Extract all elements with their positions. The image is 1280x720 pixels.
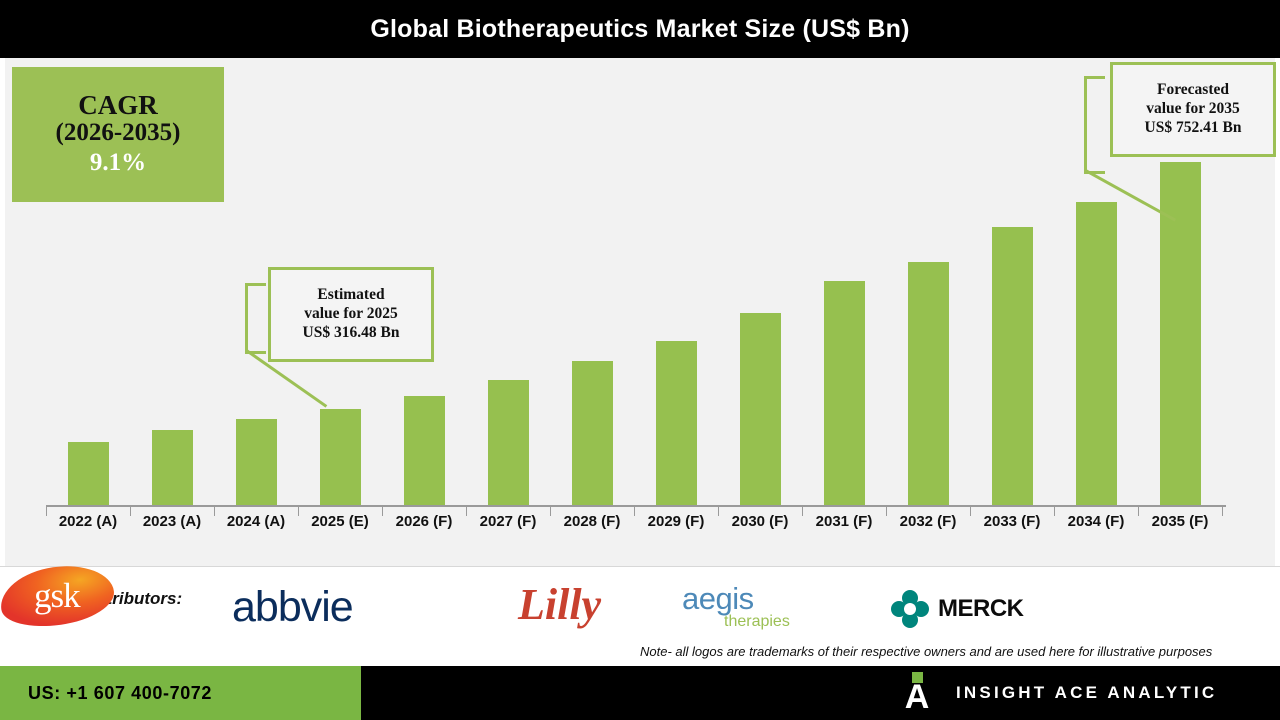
forecasted-line-1: Forecasted bbox=[1157, 81, 1229, 100]
gsk-logo: gsk bbox=[0, 559, 117, 632]
forecasted-line-3: US$ 752.41 Bn bbox=[1145, 119, 1242, 138]
bar-2028f bbox=[572, 361, 613, 505]
bar-series bbox=[46, 58, 1226, 505]
page-title: Global Biotherapeutics Market Size (US$ … bbox=[0, 0, 1280, 58]
brand-name: INSIGHT ACE ANALYTIC bbox=[956, 683, 1217, 703]
x-axis-label-7: 2029 (F) bbox=[634, 513, 718, 530]
bar-2034f bbox=[1076, 202, 1117, 505]
bar-2031f bbox=[824, 281, 865, 505]
trademark-note: Note- all logos are trademarks of their … bbox=[640, 644, 1212, 659]
estimated-line-1: Estimated bbox=[317, 286, 384, 305]
forecasted-value-callout: Forecasted value for 2035 US$ 752.41 Bn bbox=[1110, 62, 1276, 157]
x-axis-label-12: 2034 (F) bbox=[1054, 513, 1138, 530]
x-axis-label-3: 2025 (E) bbox=[298, 513, 382, 530]
bar-2032f bbox=[908, 262, 949, 505]
aegis-logo-subtext: therapies bbox=[724, 613, 790, 631]
chart-page: Global Biotherapeutics Market Size (US$ … bbox=[0, 0, 1280, 720]
bar-2030f bbox=[740, 313, 781, 505]
x-axis-label-6: 2028 (F) bbox=[550, 513, 634, 530]
x-axis-label-5: 2027 (F) bbox=[466, 513, 550, 530]
lilly-logo: Lilly bbox=[518, 579, 601, 630]
x-axis-label-8: 2030 (F) bbox=[718, 513, 802, 530]
estimated-line-3: US$ 316.48 Bn bbox=[303, 324, 400, 343]
x-axis-label-13: 2035 (F) bbox=[1138, 513, 1222, 530]
bar-2022a bbox=[68, 442, 109, 505]
estimated-line-2: value for 2025 bbox=[304, 305, 398, 324]
forecasted-line-2: value for 2035 bbox=[1146, 100, 1240, 119]
estimated-value-callout: Estimated value for 2025 US$ 316.48 Bn bbox=[268, 267, 434, 362]
forecasted-bracket bbox=[1084, 76, 1105, 174]
gsk-logo-text: gsk bbox=[34, 576, 80, 616]
bar-2027f bbox=[488, 380, 529, 505]
x-axis-label-10: 2032 (F) bbox=[886, 513, 970, 530]
merck-logo-text: MERCK bbox=[938, 595, 1024, 623]
x-axis-label-11: 2033 (F) bbox=[970, 513, 1054, 530]
estimated-bracket bbox=[245, 283, 266, 354]
aegis-logo-text: aegis bbox=[682, 581, 754, 617]
bar-2024a bbox=[236, 419, 277, 505]
footer-phone: US: +1 607 400-7072 bbox=[0, 666, 361, 720]
brand-lockup: A INSIGHT ACE ANALYTIC bbox=[900, 666, 1217, 720]
bar-2029f bbox=[656, 341, 697, 505]
x-axis-label-2: 2024 (A) bbox=[214, 513, 298, 530]
bar-2033f bbox=[992, 227, 1033, 505]
x-axis-label-1: 2023 (A) bbox=[130, 513, 214, 530]
bar-2026f bbox=[404, 396, 445, 505]
bar-2025e bbox=[320, 409, 361, 505]
x-axis-label-9: 2031 (F) bbox=[802, 513, 886, 530]
abbvie-logo: abbvie bbox=[232, 583, 353, 632]
aegis-logo: aegis therapies bbox=[682, 581, 790, 631]
bar-2023a bbox=[152, 430, 193, 505]
x-axis-label-0: 2022 (A) bbox=[46, 513, 130, 530]
merck-clover-icon bbox=[890, 589, 930, 629]
insightace-logo-icon: A bbox=[900, 672, 934, 714]
x-axis-label-4: 2026 (F) bbox=[382, 513, 466, 530]
logo-letter-a: A bbox=[900, 681, 934, 714]
merck-logo: MERCK bbox=[890, 589, 1024, 629]
x-axis-labels: 2022 (A)2023 (A)2024 (A)2025 (E)2026 (F)… bbox=[46, 513, 1226, 543]
